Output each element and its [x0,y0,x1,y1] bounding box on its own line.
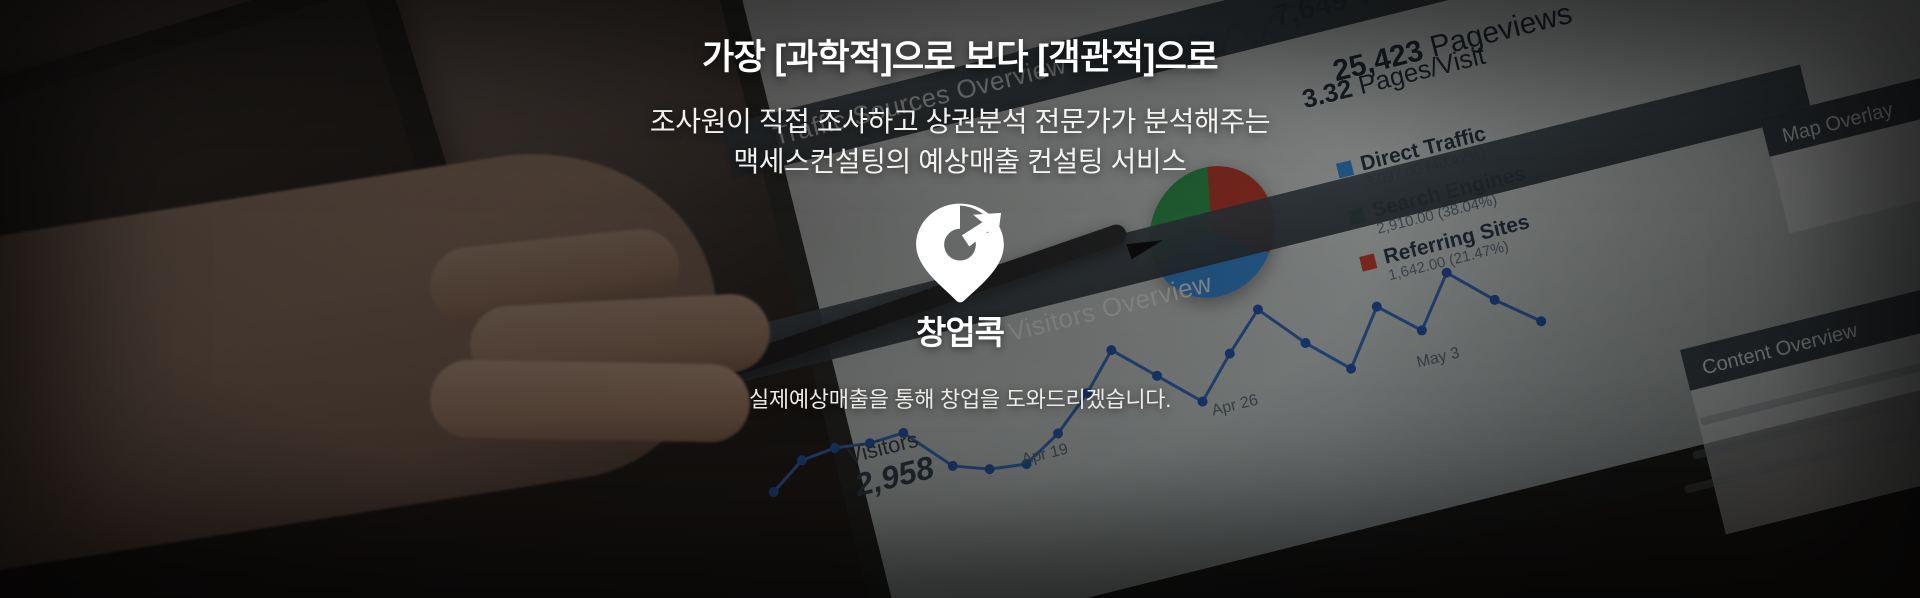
hero-subheadline-line-2: 맥세스컨설팅의 예상매출 컨설팅 서비스 [650,142,1270,182]
brand-logo[interactable]: 창업콕 [904,198,1016,354]
hero-content: 가장 [과학적]으로 보다 [객관적]으로 조사원이 직접 조사하고 상권분석 … [0,0,1920,598]
hero-tagline: 실제예상매출을 통해 창업을 도와드리겠습니다. [749,382,1171,414]
hero-subheadline-line-1: 조사원이 직접 조사하고 상권분석 전문가가 분석해주는 [650,102,1270,142]
location-pin-arrow-icon[interactable] [904,198,1016,310]
brand-wordmark[interactable]: 창업콕 [916,306,1004,354]
hero-headline: 가장 [과학적]으로 보다 [객관적]으로 [702,29,1218,80]
hero-banner: 7,649 Visits 25,423 Pageviews 3.32 Pages… [0,0,1920,598]
hero-subheadline: 조사원이 직접 조사하고 상권분석 전문가가 분석해주는 맥세스컨설팅의 예상매… [650,102,1270,182]
